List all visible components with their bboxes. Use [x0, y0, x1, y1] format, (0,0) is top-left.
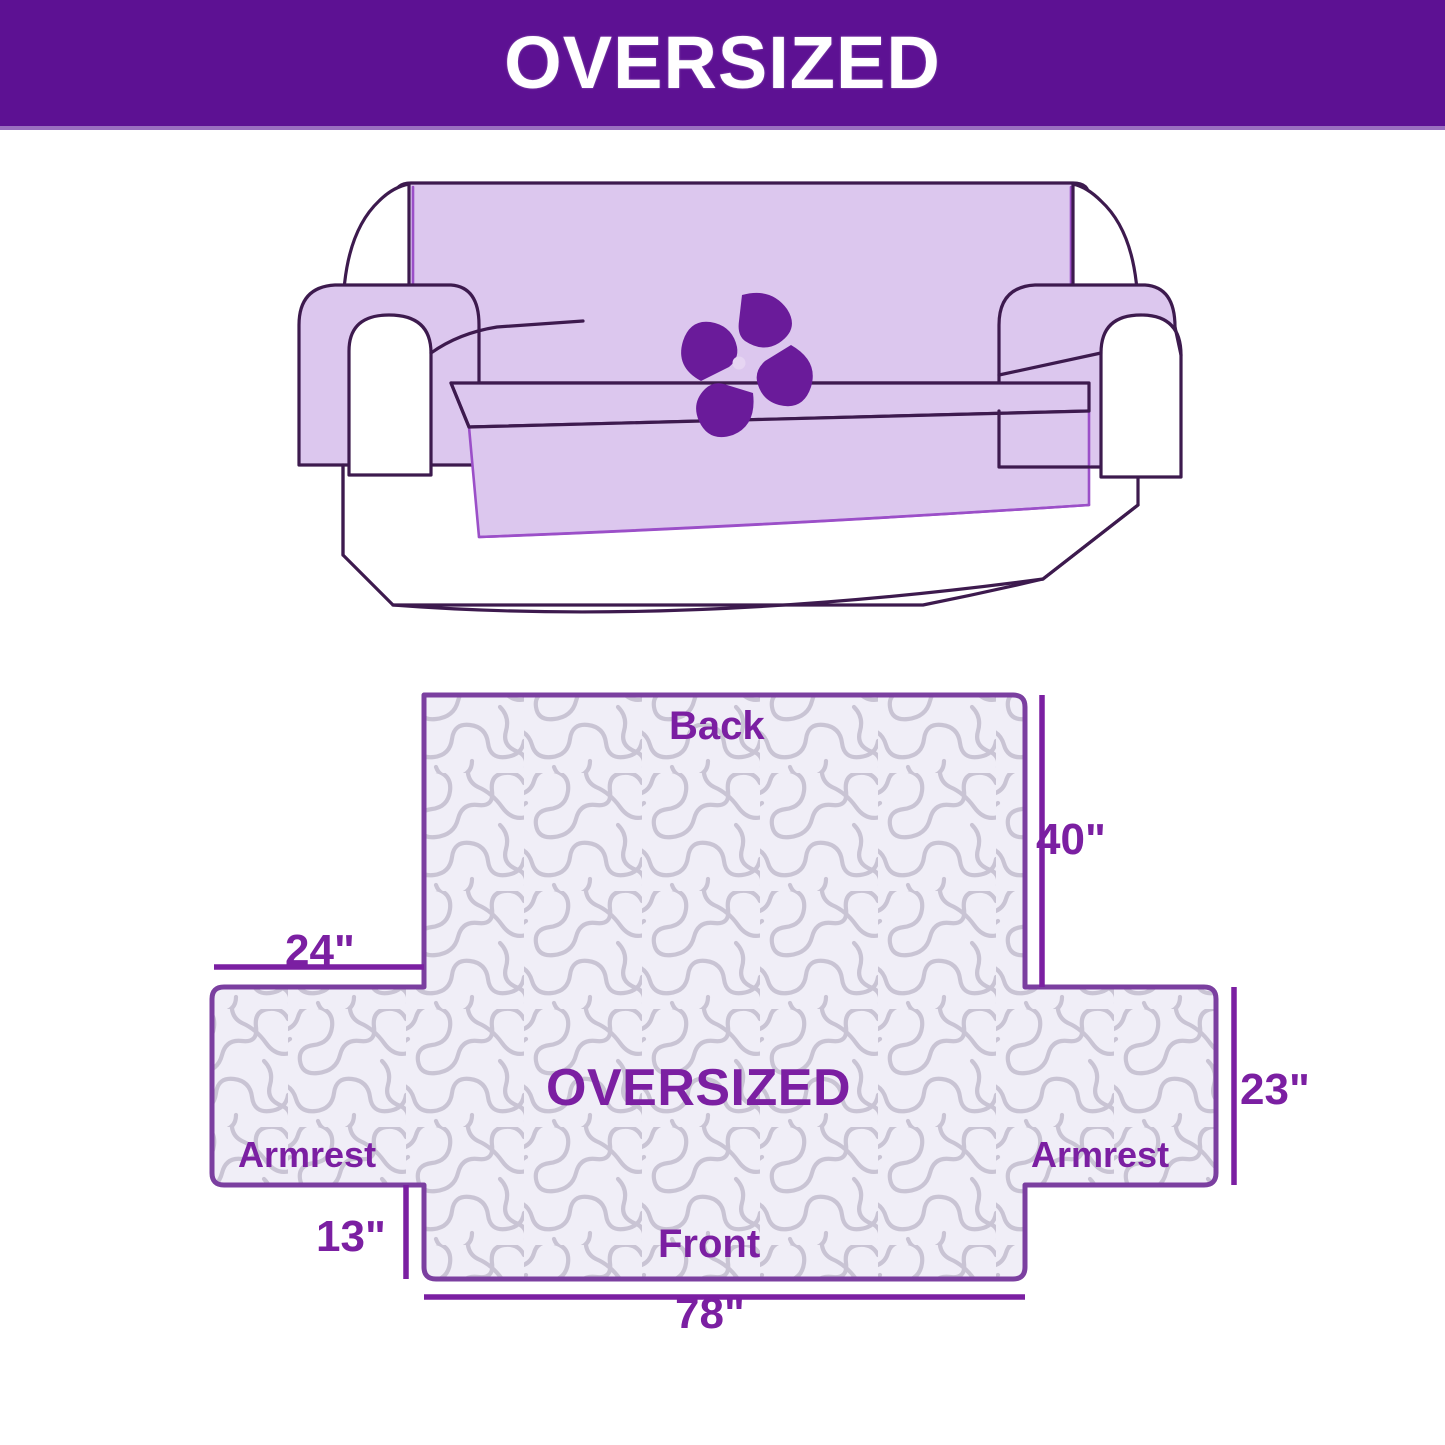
dimension-label-armrest-inset: 24"	[285, 929, 355, 973]
header-banner: OVERSIZED	[0, 0, 1445, 126]
cover-panel-outline	[212, 695, 1216, 1279]
product-size-diagram-page: OVERSIZED .so { fill:none; stroke:#3D1A4…	[0, 0, 1445, 1445]
dimension-label-armrest-height: 23"	[1240, 1068, 1310, 1112]
page-title: OVERSIZED	[504, 26, 941, 100]
dimension-label-front-height: 13"	[316, 1215, 386, 1259]
label-armrest-left: Armrest	[238, 1137, 376, 1173]
header-banner-underline	[0, 126, 1445, 130]
dimension-label-back-height: 40"	[1036, 818, 1106, 862]
label-front: Front	[658, 1224, 760, 1264]
label-armrest-right: Armrest	[1031, 1137, 1169, 1173]
sofa-illustration: .so { fill:none; stroke:#3D1A4E; stroke-…	[283, 175, 1193, 630]
label-back: Back	[669, 706, 765, 746]
label-oversized-center: OVERSIZED	[546, 1062, 851, 1114]
dimension-label-front-width: 78"	[675, 1292, 745, 1336]
